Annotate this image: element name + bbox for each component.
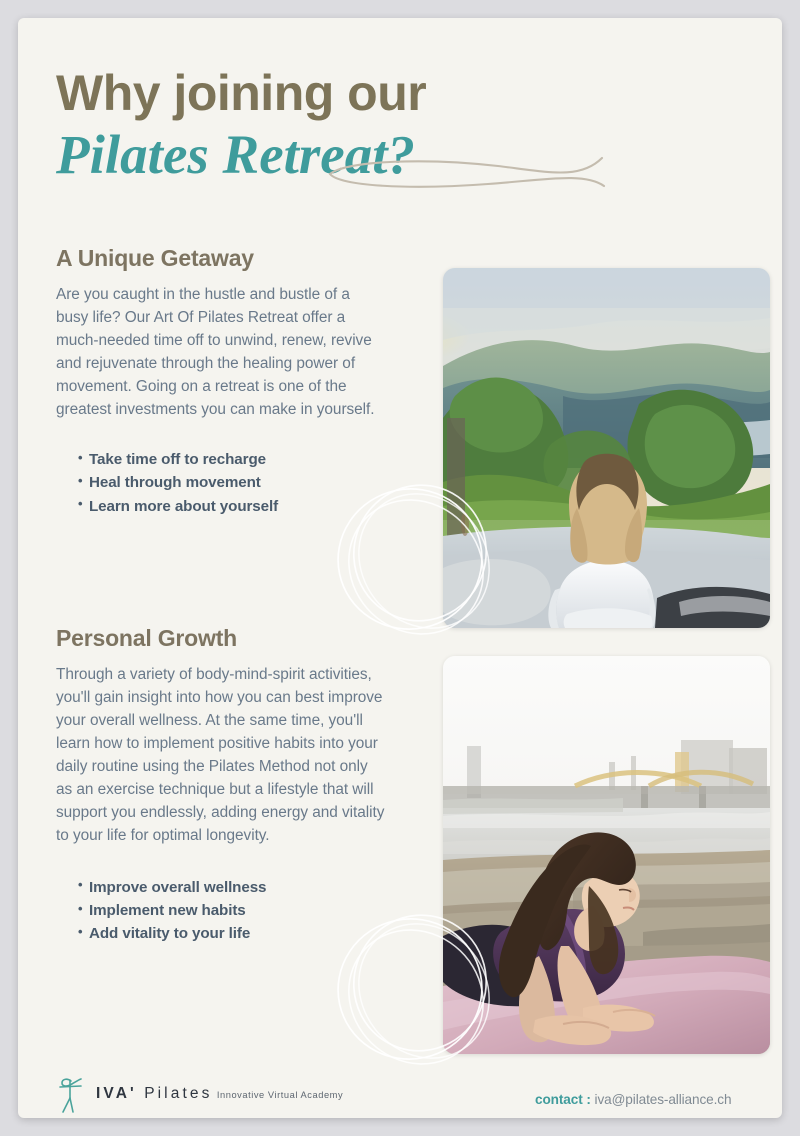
section-body: Through a variety of body-mind-spirit ac… xyxy=(56,664,386,848)
section-personal-growth: Personal Growth Through a variety of bod… xyxy=(56,626,386,946)
photo-retreat-mountain-view xyxy=(443,268,770,628)
section-heading: Personal Growth xyxy=(56,626,386,651)
section-bullet-list: Improve overall wellness Implement new h… xyxy=(56,876,386,946)
section-body: Are you caught in the hustle and bustle … xyxy=(56,284,386,422)
section-bullet-list: Take time off to recharge Heal through m… xyxy=(56,448,386,518)
list-item: Take time off to recharge xyxy=(78,448,386,471)
section-unique-getaway: A Unique Getaway Are you caught in the h… xyxy=(56,246,386,518)
brand-logo[interactable]: IVA' Pilates Innovative Virtual Academy xyxy=(56,1074,343,1114)
brand-name-bold: IVA' xyxy=(96,1085,137,1102)
list-item: Learn more about yourself xyxy=(78,495,386,518)
title-line-1: Why joining our xyxy=(56,68,656,118)
contact-email[interactable]: iva@pilates-alliance.ch xyxy=(595,1092,732,1107)
list-item: Heal through movement xyxy=(78,471,386,494)
brand-tagline: Innovative Virtual Academy xyxy=(217,1090,343,1100)
footer: IVA' Pilates Innovative Virtual Academy … xyxy=(18,1056,782,1118)
list-item: Implement new habits xyxy=(78,899,386,922)
page-title: Why joining our Pilates Retreat? xyxy=(56,68,656,186)
poster-page: Why joining our Pilates Retreat? A Uniqu… xyxy=(18,18,782,1118)
section-heading: A Unique Getaway xyxy=(56,246,386,271)
brand-name-light: Pilates xyxy=(144,1085,212,1102)
stick-figure-person-icon xyxy=(56,1074,90,1114)
photo-cobra-pose-riverside xyxy=(443,656,770,1054)
list-item: Improve overall wellness xyxy=(78,876,386,899)
title-line-2: Pilates Retreat? xyxy=(56,118,656,186)
contact-info[interactable]: contact : iva@pilates-alliance.ch xyxy=(535,1092,731,1107)
brand-text: IVA' Pilates Innovative Virtual Academy xyxy=(96,1085,343,1103)
list-item: Add vitality to your life xyxy=(78,922,386,945)
brand-name: IVA' Pilates xyxy=(96,1085,212,1102)
contact-label: contact : xyxy=(535,1092,591,1107)
